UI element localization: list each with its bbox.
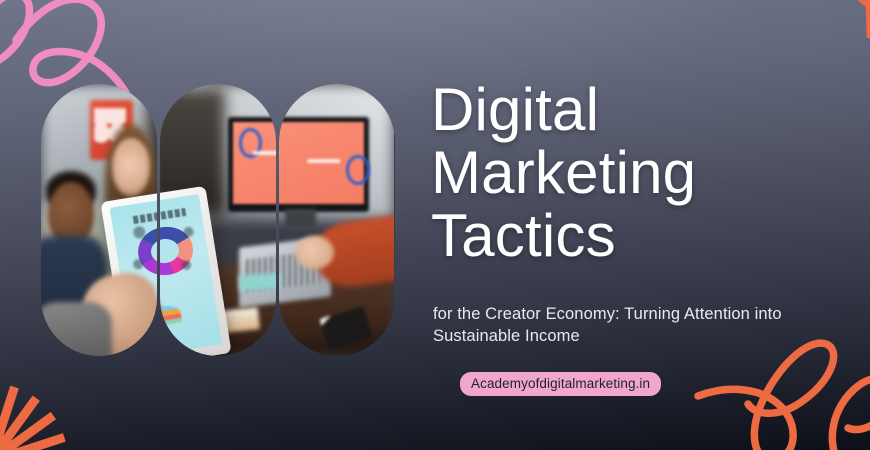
office-scene-art: [160, 84, 276, 356]
office-scene-art: [41, 84, 157, 356]
collage-photo: [279, 84, 394, 356]
page-title: Digital Marketing Tactics: [431, 78, 831, 267]
photo-panel-right: [279, 84, 395, 356]
photo-panel-left: [41, 84, 157, 356]
photo-panel-center: [160, 84, 276, 356]
page-subtitle: for the Creator Economy: Turning Attenti…: [433, 303, 793, 347]
promo-banner: Digital Marketing Tactics for the Creato…: [0, 0, 870, 450]
office-scene-art: [279, 84, 394, 356]
site-badge[interactable]: Academyofdigitalmarketing.in: [460, 372, 661, 396]
collage-photo: [160, 84, 276, 356]
photo-collage: [41, 84, 394, 356]
collage-photo: [41, 84, 157, 356]
text-column: Digital Marketing Tactics for the Creato…: [431, 0, 851, 450]
